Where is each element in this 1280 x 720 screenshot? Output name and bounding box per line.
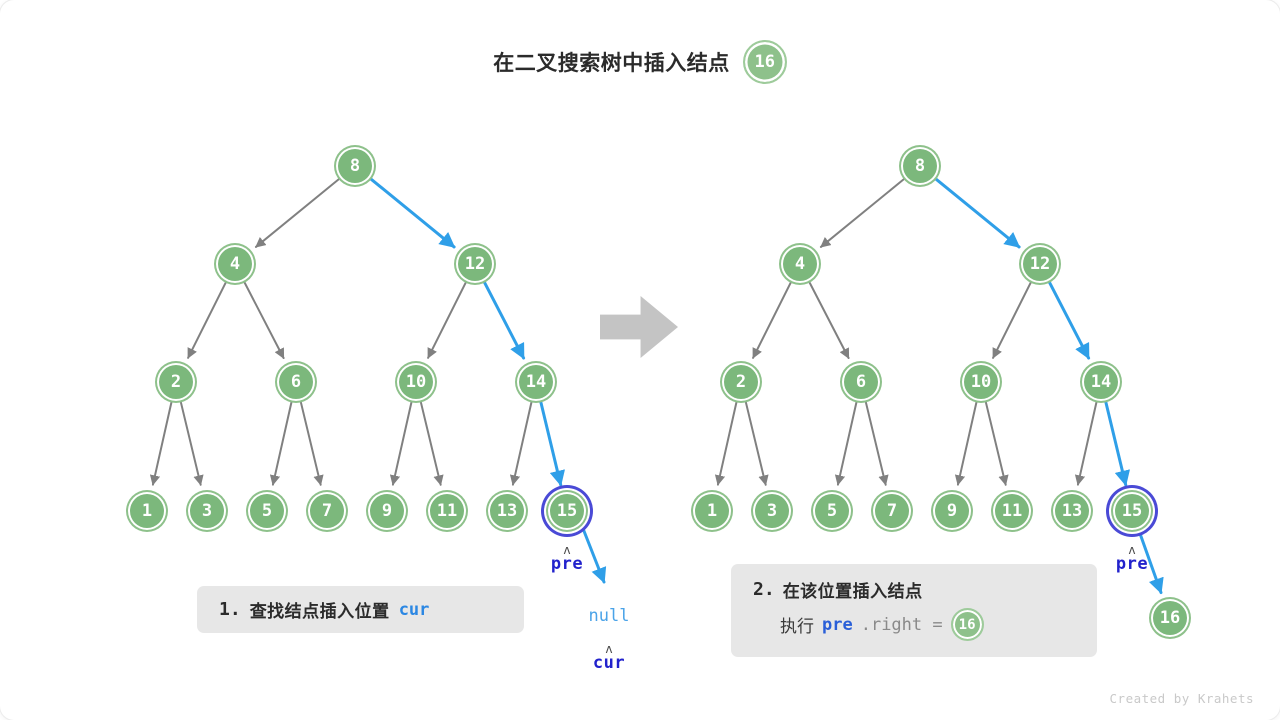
tree-node-3[interactable]: 3 (753, 492, 791, 530)
tree-edge (838, 402, 857, 485)
tree-node-11[interactable]: 11 (428, 492, 466, 530)
tree-edge (256, 179, 340, 247)
tree-edge (484, 282, 523, 358)
null-label: null (589, 606, 630, 626)
pointer-name: pre (551, 554, 583, 574)
tree-edge-to-null (582, 526, 604, 582)
tree-node-12[interactable]: 12 (456, 245, 494, 283)
tree-edge (866, 401, 886, 484)
caret-icon: ʌ (1116, 546, 1148, 554)
tree-node-14[interactable]: 14 (517, 363, 555, 401)
tree-edge (513, 402, 532, 485)
transition-arrow-icon (600, 296, 678, 358)
tree-edge (428, 282, 466, 358)
caption-1-text: 查找结点插入位置 (250, 597, 390, 622)
tree-edge (273, 402, 292, 485)
tree-node-10[interactable]: 10 (962, 363, 1000, 401)
tree-node-7[interactable]: 7 (873, 492, 911, 530)
diagram-canvas: 在二叉搜索树中插入结点 16 841226101413579111315 841… (0, 0, 1280, 720)
page-title: 在二叉搜索树中插入结点 16 (0, 40, 1280, 84)
tree-node-14[interactable]: 14 (1082, 363, 1120, 401)
tree-node-6[interactable]: 6 (842, 363, 880, 401)
tree-node-1[interactable]: 1 (693, 492, 731, 530)
tree-edge (541, 401, 561, 484)
tree-edge (393, 402, 412, 485)
tree-node-6[interactable]: 6 (277, 363, 315, 401)
tree-edge (301, 401, 321, 484)
tree-node-8[interactable]: 8 (336, 147, 374, 185)
caption-2-action-prefix: 执行 (780, 612, 814, 637)
tree-node-13[interactable]: 13 (1053, 492, 1091, 530)
tree-edge (153, 402, 172, 485)
caption-1-variable: cur (399, 600, 430, 620)
tree-edge (935, 179, 1019, 247)
tree-node-11[interactable]: 11 (993, 492, 1031, 530)
tree-node-2[interactable]: 2 (157, 363, 195, 401)
footer-credit: Created by Krahets (1110, 691, 1254, 706)
tree-node-10[interactable]: 10 (397, 363, 435, 401)
caption-2-heading: 在该位置插入结点 (783, 577, 923, 602)
transition-arrow-group (600, 296, 678, 358)
tree-node-12[interactable]: 12 (1021, 245, 1059, 283)
tree-edge (993, 282, 1031, 358)
tree-node-3[interactable]: 3 (188, 492, 226, 530)
tree-edge (188, 282, 226, 358)
tree-edge (809, 282, 848, 358)
tree-node-8[interactable]: 8 (901, 147, 939, 185)
tree-node-1[interactable]: 1 (128, 492, 166, 530)
pointer-name: cur (593, 653, 625, 673)
tree-edge (181, 401, 201, 484)
page-title-text: 在二叉搜索树中插入结点 (493, 47, 730, 77)
tree-edge (746, 401, 766, 484)
tree-node-5[interactable]: 5 (248, 492, 286, 530)
pointer-label-pre-right: ʌpre (1116, 546, 1148, 574)
tree-node-15[interactable]: 15 (1113, 492, 1151, 530)
pointer-label-cur-left: ʌcur (593, 645, 625, 673)
pointer-label-pre-left: ʌpre (551, 546, 583, 574)
caption-2-line-2: 执行 pre .right = 16 (753, 608, 984, 641)
caret-icon: ʌ (551, 546, 583, 554)
tree-node-5[interactable]: 5 (813, 492, 851, 530)
tree-node-9[interactable]: 9 (933, 492, 971, 530)
tree-edge (718, 402, 737, 485)
tree-node-13[interactable]: 13 (488, 492, 526, 530)
tree-edge (421, 401, 441, 484)
caption-2-node-chip: 16 (951, 608, 984, 641)
caption-step-2: 2. 在该位置插入结点 执行 pre .right = 16 (731, 564, 1097, 657)
tree-node-7[interactable]: 7 (308, 492, 346, 530)
tree-node-4[interactable]: 4 (781, 245, 819, 283)
tree-edge (986, 401, 1006, 484)
tree-node-16[interactable]: 16 (1151, 599, 1189, 637)
tree-node-4[interactable]: 4 (216, 245, 254, 283)
tree-edge (821, 179, 905, 247)
tree-node-2[interactable]: 2 (722, 363, 760, 401)
caption-2-number: 2. (753, 579, 775, 600)
caption-2-line-1: 2. 在该位置插入结点 (753, 577, 923, 602)
title-node-chip: 16 (743, 40, 787, 84)
tree-edge (1106, 401, 1126, 484)
tree-edge (753, 282, 791, 358)
tree-edge (244, 282, 283, 358)
caption-1-number: 1. (219, 599, 241, 620)
tree-node-9[interactable]: 9 (368, 492, 406, 530)
tree-node-15[interactable]: 15 (548, 492, 586, 530)
tree-edge (1049, 282, 1088, 358)
pointer-name: pre (1116, 554, 1148, 574)
caption-2-variable: pre (822, 615, 853, 635)
caption-step-1: 1. 查找结点插入位置 cur (197, 586, 524, 633)
tree-edge (1078, 402, 1097, 485)
tree-edge (958, 402, 977, 485)
tree-edge (370, 179, 454, 247)
caret-icon: ʌ (593, 645, 625, 653)
caption-2-code: .right = (861, 615, 943, 635)
